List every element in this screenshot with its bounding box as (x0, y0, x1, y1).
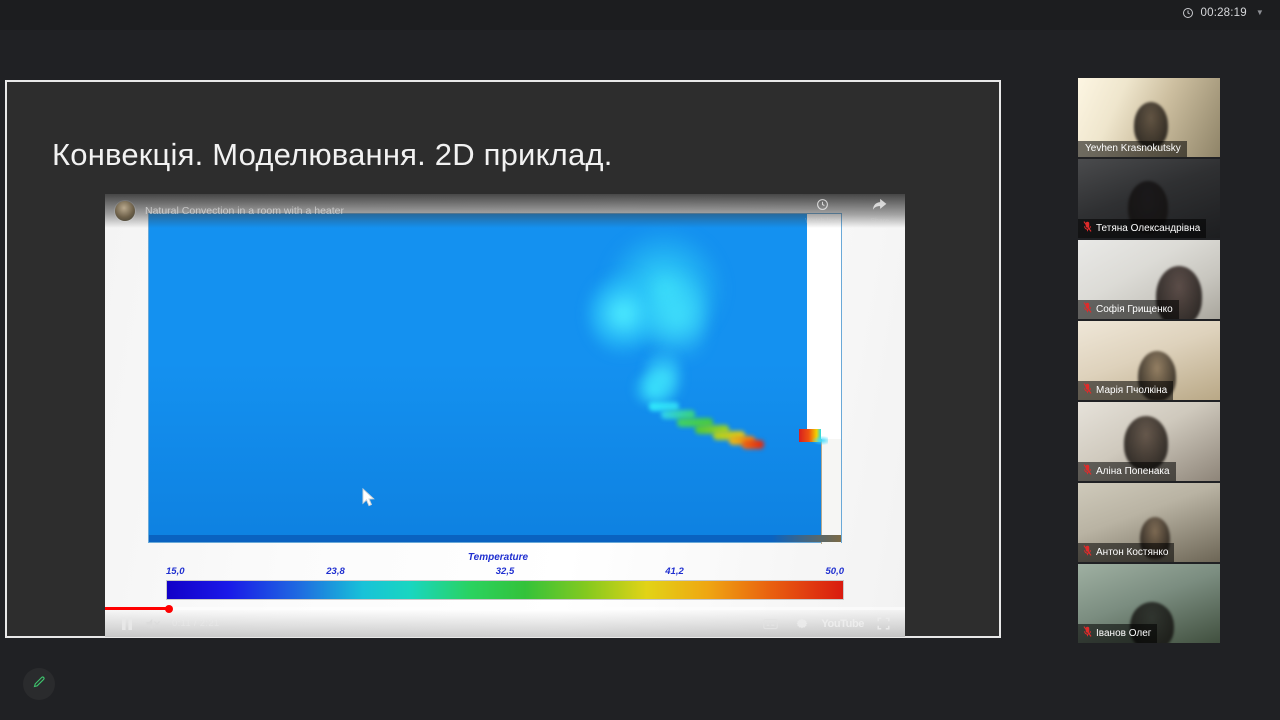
watch-later-button[interactable]: Watch later (805, 198, 840, 225)
meeting-timer[interactable]: 00:28:19 ▼ (1175, 5, 1271, 21)
participant-name-bar: Марія Пчолкіна (1078, 381, 1173, 400)
mic-muted-icon (1083, 383, 1092, 397)
participant-tile[interactable]: Антон Костянко (1078, 483, 1220, 562)
mic-muted-icon (1083, 626, 1092, 640)
mouse-pointer-icon (362, 488, 375, 512)
video-title[interactable]: Natural Convection in a room with a heat… (145, 205, 344, 217)
mic-muted-icon (1083, 221, 1092, 235)
participant-tile[interactable]: Yevhen Krasnokutsky (1078, 78, 1220, 157)
volume-muted-icon[interactable] (140, 611, 166, 637)
plume-segment (713, 431, 745, 440)
legend-tick: 50,0 (826, 566, 845, 577)
legend-tick: 15,0 (166, 566, 185, 577)
gear-icon[interactable] (789, 611, 815, 637)
participant-name-bar: Софія Грищенко (1078, 300, 1179, 319)
plume-segment (649, 402, 679, 411)
plume-segment (695, 425, 729, 434)
watch-later-label: Watch later (805, 218, 840, 225)
participant-tile[interactable]: Іванов Олег (1078, 564, 1220, 643)
mic-muted-icon (1083, 545, 1092, 559)
chevron-down-icon[interactable]: ▼ (1256, 9, 1264, 17)
participant-name-bar: Yevhen Krasnokutsky (1078, 141, 1187, 157)
plume-segment (742, 440, 764, 449)
participant-name: Іванов Олег (1096, 628, 1151, 639)
participant-name: Марія Пчолкіна (1096, 385, 1167, 396)
participant-tile[interactable]: Софія Грищенко (1078, 240, 1220, 319)
participant-name-bar: Іванов Олег (1078, 624, 1157, 643)
participant-rail: Yevhen KrasnokutskyТетяна ОлександрівнаС… (1078, 78, 1220, 645)
plume-segment (677, 418, 713, 427)
page-title: Конвекція. Моделювання. 2D приклад. (52, 137, 613, 173)
participant-name-bar: Аліна Попенака (1078, 462, 1176, 481)
legend-tick: 23,8 (326, 566, 345, 577)
subtitles-icon[interactable] (757, 611, 783, 637)
participant-tile[interactable]: Тетяна Олександрівна (1078, 159, 1220, 238)
player-top-bar: Natural Convection in a room with a heat… (105, 194, 905, 228)
room-wall-notch (807, 214, 841, 439)
plume-segment (729, 436, 755, 445)
share-button[interactable]: Share (870, 198, 889, 225)
participant-name-bar: Антон Костянко (1078, 543, 1174, 562)
share-label: Share (870, 218, 889, 225)
plume-segment (661, 410, 695, 419)
video-timestamp: 0:11 / 2:21 (172, 618, 220, 629)
legend-title: Temperature (468, 552, 528, 563)
youtube-player[interactable]: Temperature 15,023,832,541,250,0 Natural… (105, 194, 905, 637)
room-wall-lower (821, 439, 841, 544)
participant-name: Аліна Попенака (1096, 466, 1170, 477)
participant-name: Софія Грищенко (1096, 304, 1173, 315)
legend-tick-labels: 15,023,832,541,250,0 (148, 566, 848, 578)
participant-name-bar: Тетяна Олександрівна (1078, 219, 1206, 238)
participant-tile[interactable]: Марія Пчолкіна (1078, 321, 1220, 400)
clock-icon (1182, 7, 1194, 19)
player-controls: 0:11 / 2:21 Y (105, 607, 905, 637)
annotate-button[interactable] (23, 668, 55, 700)
participant-name: Yevhen Krasnokutsky (1085, 143, 1181, 154)
top-bar: 00:28:19 ▼ (0, 0, 1280, 30)
participant-tile[interactable]: Аліна Попенака (1078, 402, 1220, 481)
temperature-colorbar (166, 580, 844, 600)
legend-tick: 32,5 (496, 566, 515, 577)
legend-tick: 41,2 (665, 566, 684, 577)
clock-icon (816, 198, 829, 216)
simulation-canvas: Temperature 15,023,832,541,250,0 (105, 194, 905, 637)
participant-name: Тетяна Олександрівна (1096, 223, 1200, 234)
timer-value: 00:28:19 (1201, 7, 1247, 19)
pause-button[interactable] (114, 611, 140, 637)
channel-avatar[interactable] (115, 201, 135, 221)
mic-muted-icon (1083, 464, 1092, 478)
convection-plume (149, 214, 843, 544)
share-arrow-icon (872, 198, 887, 216)
participant-name: Антон Костянко (1096, 547, 1168, 558)
mic-muted-icon (1083, 302, 1092, 316)
shared-screen-area: Конвекція. Моделювання. 2D приклад. (5, 80, 1001, 638)
room-floor (149, 535, 841, 542)
fullscreen-icon[interactable] (870, 611, 896, 637)
pencil-icon (32, 674, 47, 694)
simulation-room (148, 213, 842, 543)
meeting-screen: 00:28:19 ▼ Конвекція. Моделювання. 2D пр… (0, 0, 1280, 720)
heater-glow (812, 436, 828, 445)
youtube-logo[interactable]: YouTube (821, 618, 864, 630)
